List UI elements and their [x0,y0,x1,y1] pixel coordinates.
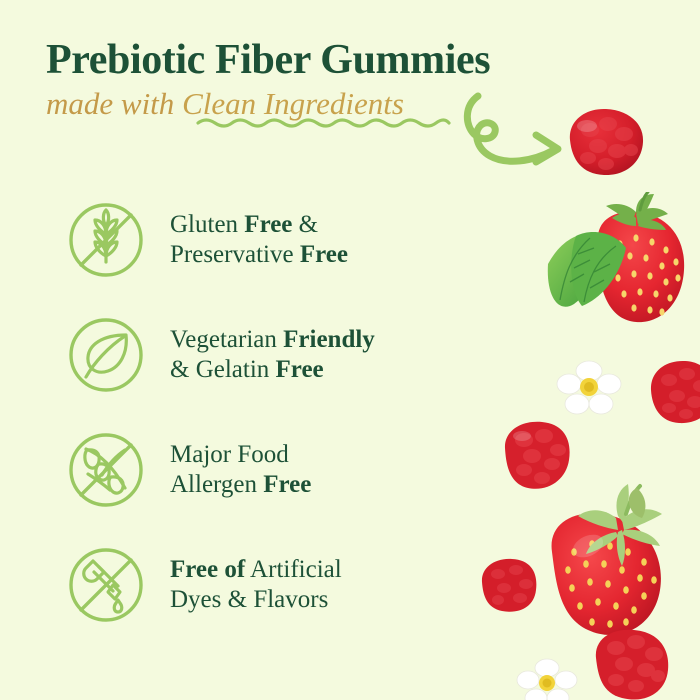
benefit-line-2: Dyes & Flavors [170,585,342,615]
strawberry-blossom-bottom-icon [516,656,578,700]
benefit-line-2: Allergen Free [170,470,311,500]
benefit-line-2: & Gelatin Free [170,355,375,385]
text-plain: Major Food [170,441,289,468]
benefit-label: Gluten Free & Preservative Free [170,210,348,270]
page-title: Prebiotic Fiber Gummies [46,36,646,84]
text-tail: & [292,211,318,238]
gummy-raspberry-bottom-icon [590,626,674,700]
text-plain: & Gelatin [170,356,276,383]
text-plain: Preservative [170,241,300,268]
no-soy-icon [66,430,146,510]
no-wheat-icon [66,200,146,280]
strawberry-blossom-upper-icon [556,358,622,416]
benefit-line-1: Free of Artificial [170,555,342,585]
benefits-list: Gluten Free & Preservative Free Vegetari… [66,182,466,642]
text-plain: Vegetarian [170,326,283,353]
benefit-label: Major Food Allergen Free [170,440,311,500]
gummy-raspberry-right-icon [645,356,700,428]
benefit-item-gluten-free: Gluten Free & Preservative Free [66,182,466,297]
curved-arrow-icon [462,92,582,174]
text-plain: Allergen [170,471,263,498]
no-dropper-icon [66,545,146,625]
gummy-raspberry-lower-left-icon [478,556,540,616]
text-bold: Free [276,356,324,383]
benefit-item-vegetarian-friendly: Vegetarian Friendly & Gelatin Free [66,297,466,412]
wavy-underline-icon [196,116,451,128]
benefit-label: Free of Artificial Dyes & Flavors [170,555,342,615]
benefit-line-2: Preservative Free [170,240,348,270]
benefit-item-allergen-free: Major Food Allergen Free [66,412,466,527]
strawberry-lower-icon [530,480,695,645]
benefit-line-1: Gluten Free & [170,210,348,240]
text-plain: Gluten [170,211,244,238]
benefit-line-1: Vegetarian Friendly [170,325,375,355]
leaf-icon [66,315,146,395]
text-bold: Free [300,241,348,268]
text-plain: Dyes & Flavors [170,586,328,613]
prebiotic-fiber-gummies-infographic: Prebiotic Fiber Gummies made with Clean … [0,0,700,700]
text-tail: Artificial [245,556,342,583]
gummy-raspberry-mid-icon [498,418,576,494]
benefit-label: Vegetarian Friendly & Gelatin Free [170,325,375,385]
strawberry-with-leaves-icon [540,192,700,340]
benefit-line-1: Major Food [170,440,311,470]
leaf-fragment-icon [624,486,650,520]
benefit-item-no-artificial-dyes: Free of Artificial Dyes & Flavors [66,527,466,642]
text-bold: Free [263,471,311,498]
subtitle-prefix: made with [46,86,182,121]
text-bold: Free of [170,556,245,583]
text-bold: Friendly [283,326,375,353]
text-bold: Free [244,211,292,238]
